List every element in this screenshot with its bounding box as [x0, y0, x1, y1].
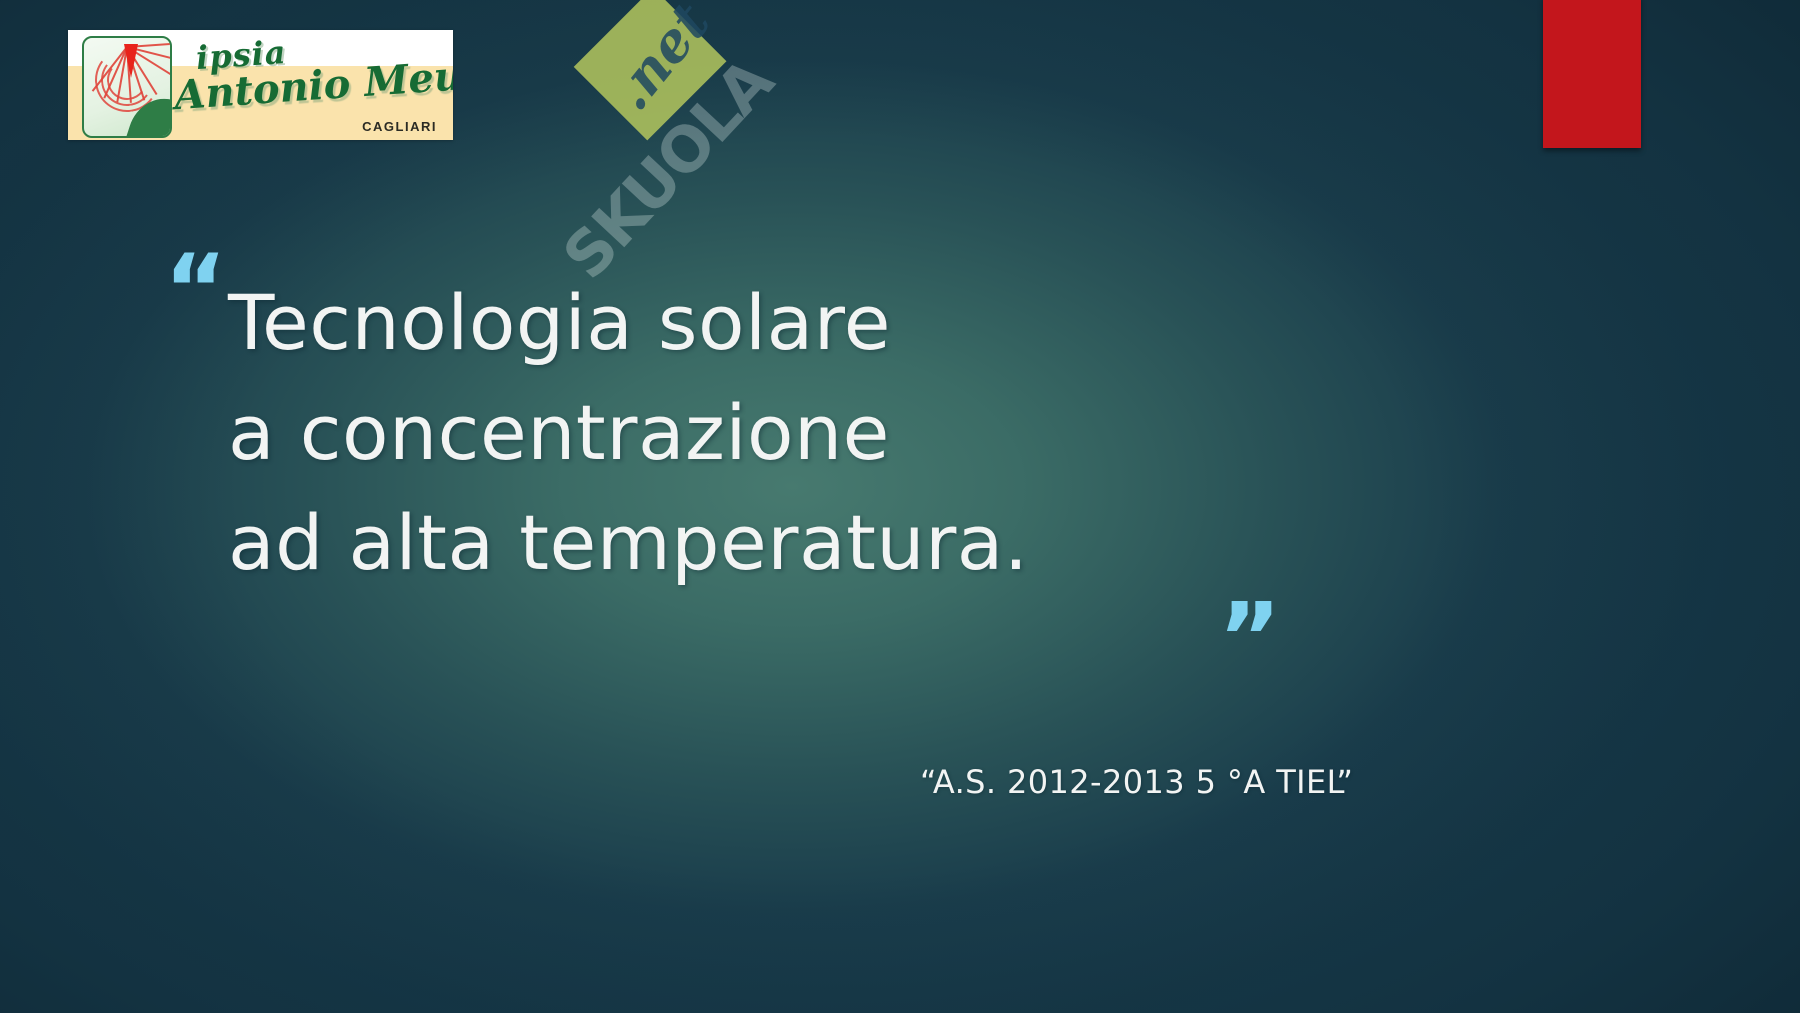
red-accent-bar [1543, 0, 1641, 148]
logo-city-label: CAGLIARI [362, 119, 437, 134]
title-line: a concentrazione [228, 378, 1288, 488]
watermark-badge [574, 0, 727, 140]
opening-quote-mark: “ [164, 242, 227, 338]
title-line: Tecnologia solare [228, 268, 1288, 378]
watermark-tld-text: .net [598, 0, 722, 122]
slide-subtitle: “A.S. 2012-2013 5 °A TIEL” [920, 763, 1353, 801]
presentation-slide: ipsia Antonio Meucci CAGLIARI SKUOLA .ne… [0, 0, 1800, 1013]
logo-emblem-icon [82, 36, 172, 138]
closing-quote-mark: „ [1220, 538, 1283, 634]
watermark-brand-text: SKUOLA [549, 45, 787, 292]
title-line: ad alta temperatura. [228, 488, 1288, 598]
logo-wordmark: ipsia Antonio Meucci [174, 34, 446, 122]
school-logo: ipsia Antonio Meucci CAGLIARI [68, 30, 453, 140]
logo-pin-marker [124, 44, 138, 78]
slide-title: Tecnologia solare a concentrazione ad al… [228, 268, 1288, 598]
